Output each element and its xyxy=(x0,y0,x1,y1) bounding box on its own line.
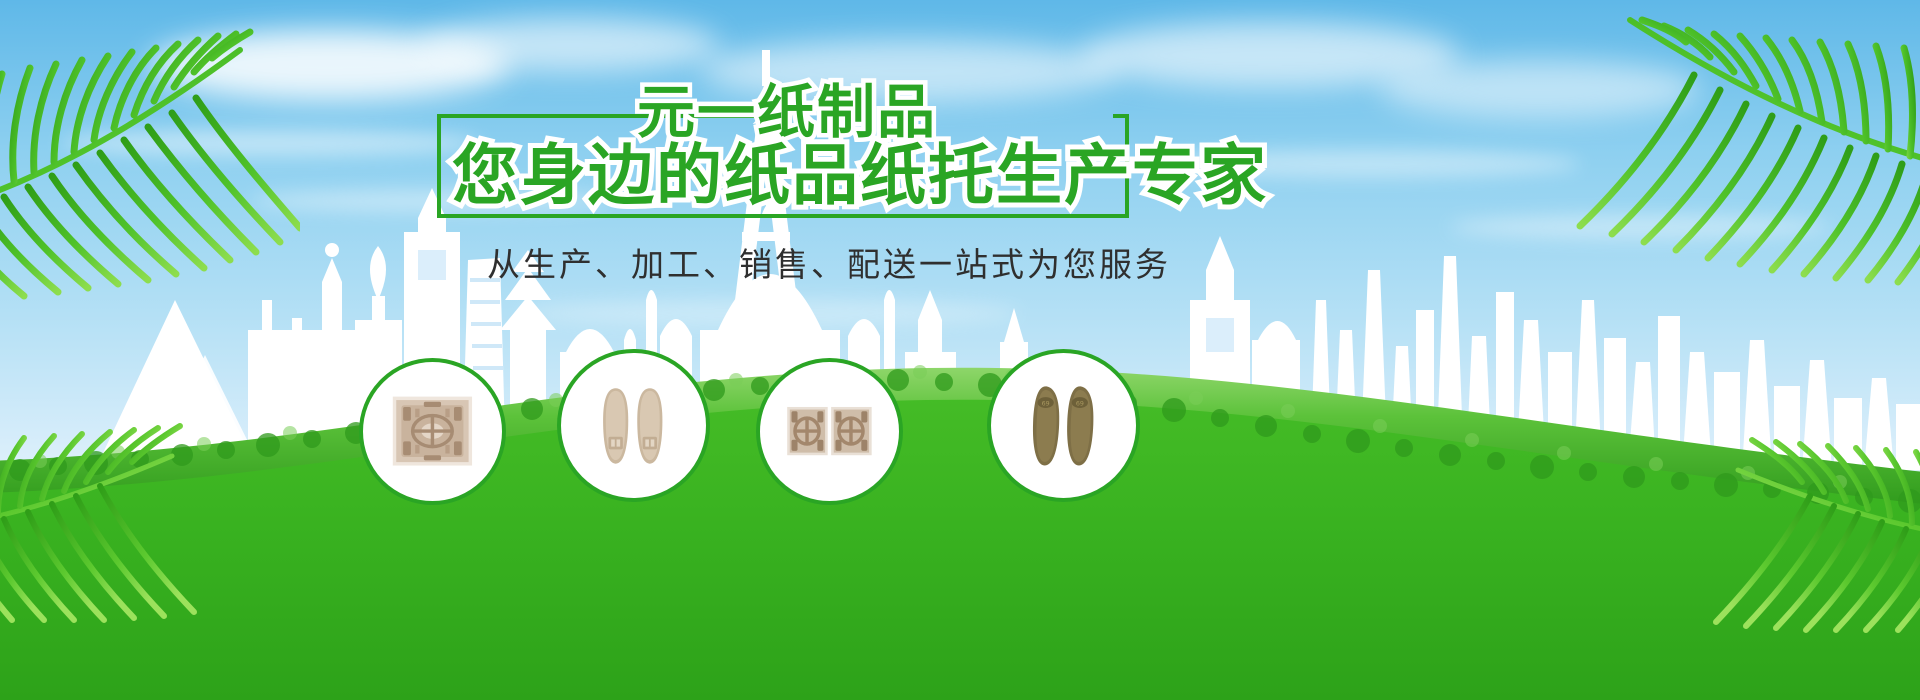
headline-line-2: 您身边的纸品纸托生产专家 xyxy=(452,143,1268,209)
paper-pulp-tray-double-icon xyxy=(778,388,881,474)
product-circle-4[interactable]: 69 69 xyxy=(987,349,1140,502)
product-circle-2[interactable] xyxy=(557,349,710,502)
promo-banner: 元一纸制品 您身边的纸品纸托生产专家 从生产、加工、销售、配送一站式为您服务 xyxy=(0,0,1920,700)
palm-frond-bottom-left xyxy=(0,400,220,660)
product-circle-1[interactable] xyxy=(359,358,506,505)
paper-pulp-shoe-last-pair-icon: 69 69 xyxy=(1010,381,1117,471)
product-circle-3[interactable] xyxy=(756,358,903,505)
headline-subtitle: 从生产、加工、销售、配送一站式为您服务 xyxy=(487,238,1171,286)
grass-hill xyxy=(0,280,1920,700)
paper-pulp-shoe-insert-pair-icon xyxy=(580,381,687,471)
palm-frond-bottom-right xyxy=(1690,420,1920,670)
svg-text:69: 69 xyxy=(1042,400,1050,407)
paper-pulp-tray-square-icon xyxy=(381,388,484,474)
palm-frond-top-left xyxy=(0,0,300,300)
headline-line-1: 元一纸制品 xyxy=(637,83,937,141)
svg-text:69: 69 xyxy=(1076,400,1084,407)
palm-frond-top-right xyxy=(1550,0,1920,290)
